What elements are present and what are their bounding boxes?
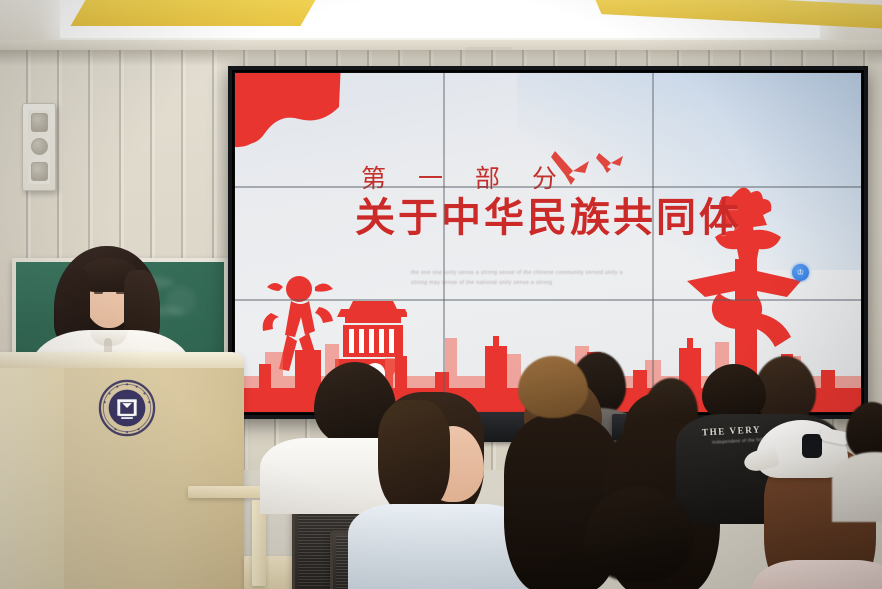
speaker-driver-icon: [31, 138, 48, 155]
video-wall-seam-vertical: [652, 73, 654, 412]
slide-subtitle-line-1: the one one unity sense a strong sense o…: [411, 269, 721, 279]
audience-head: [518, 356, 588, 418]
audience-member: [846, 402, 882, 522]
video-wall-seam-vertical: [443, 73, 445, 412]
speaker-driver-icon: [31, 113, 48, 132]
speaker-driver-icon: [31, 162, 48, 181]
lecture-hall-scene: 第 一 部 分 关于中华民族共同体 the one one unity sens…: [0, 0, 882, 589]
podium-top-surface: [0, 352, 244, 368]
slide-subtitle: the one one unity sense a strong sense o…: [411, 269, 721, 288]
slide-subtitle-line-2: strong may sense of the national unity s…: [411, 279, 721, 289]
screen-watermark-badge: ♔: [792, 264, 809, 281]
ceiling-trim-yellow-left: [70, 0, 315, 26]
slide-eyebrow: 第 一 部 分: [361, 165, 775, 194]
audience-shoulders: [832, 452, 882, 522]
video-wall-seam-horizontal: [235, 299, 861, 301]
audience-hair-bun: [378, 400, 450, 508]
speaker-grill: [28, 110, 50, 184]
audience-member: [508, 356, 600, 446]
university-emblem-icon: [98, 379, 156, 437]
wall-top-shadow: [0, 50, 882, 66]
slide-heading: 关于中华民族共同体: [355, 196, 775, 241]
audience-member: [572, 486, 712, 589]
audience-head: [584, 486, 694, 582]
podium-left-face: [0, 362, 64, 589]
audience-member: [370, 392, 510, 589]
wall-speaker: [22, 103, 56, 191]
audience-shoulders: [752, 560, 882, 589]
cap-back-opening: [802, 434, 822, 458]
video-wall-seam-horizontal: [235, 186, 861, 188]
red-flag-icon: [235, 73, 349, 187]
slide-title-block: 第 一 部 分 关于中华民族共同体: [355, 165, 775, 241]
